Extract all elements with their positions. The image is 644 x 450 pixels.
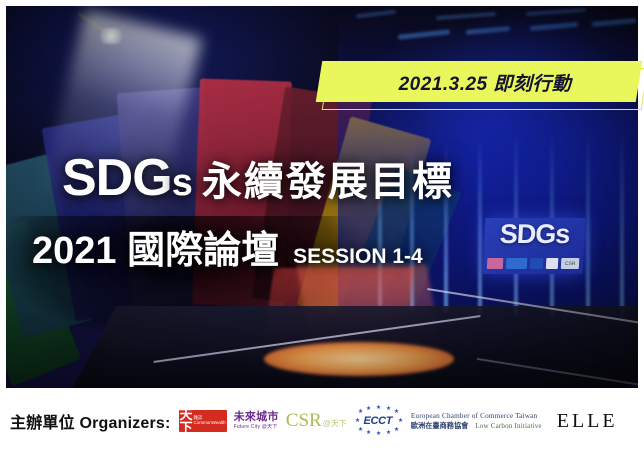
event-poster: SDGs CSR 2021.3.25 即刻行動 SDGs 永續發展目標 2021… [0, 0, 644, 450]
chamber-second-row: 歐洲在臺商務協會 Low Carbon Initiative [411, 421, 542, 431]
csr-suffix: @天下 [323, 418, 347, 429]
eu-star-icon: ★ [366, 406, 371, 412]
organizer-logo-row: 天下 雜誌 CommonWealth 未來城市 Future City @天下 … [179, 406, 618, 436]
date-banner-text: 2021.3.25 即刻行動 [335, 66, 635, 98]
eu-star-icon: ★ [355, 418, 360, 424]
eu-star-icon: ★ [394, 427, 399, 433]
eu-star-icon: ★ [358, 409, 363, 415]
csr-main: CSR [286, 410, 322, 432]
mini-logo [487, 258, 504, 269]
future-city-english: Future City @天下 [234, 425, 278, 430]
eu-star-icon: ★ [386, 406, 391, 412]
mini-logo [530, 258, 543, 269]
eu-star-icon: ★ [358, 427, 363, 433]
chamber-english-name: European Chamber of Commerce Taiwan [411, 412, 542, 421]
title-session: SESSION 1-4 [293, 246, 423, 267]
title-chinese-main: 永續發展目標 [202, 162, 454, 202]
logo-european-chamber: European Chamber of Commerce Taiwan 歐洲在臺… [411, 412, 542, 431]
sdgs-stage-screen-badge: SDGs CSR [483, 218, 586, 274]
commonwealth-sub: 雜誌 CommonWealth [193, 416, 225, 426]
eu-star-icon: ★ [366, 430, 371, 436]
organizers-footer: 主辦單位 Organizers: 天下 雜誌 CommonWealth 未來城市… [0, 392, 644, 450]
title-chinese-sub: 國際論壇 [127, 230, 279, 272]
mini-logo-csr: CSR [561, 258, 579, 269]
poster-title-primary: SDGs 永續發展目標 [62, 152, 454, 204]
logo-csr-commonwealth: CSR @天下 [286, 410, 347, 432]
title-year-and-forum: 2021 國際論壇 [32, 232, 279, 270]
title-acronym: SDGs [62, 152, 192, 204]
ecct-acronym: ECCT [363, 415, 392, 427]
poster-title-secondary: 2021 國際論壇 SESSION 1-4 [32, 232, 423, 270]
commonwealth-chinese: 天下 [179, 408, 191, 434]
logo-future-city: 未來城市 Future City @天下 [234, 412, 279, 430]
date-banner: 2021.3.25 即刻行動 [315, 60, 644, 118]
eu-star-icon: ★ [386, 430, 391, 436]
mini-logo [506, 258, 528, 269]
mini-logo [546, 258, 559, 269]
low-carbon-initiative-label: Low Carbon Initiative [475, 422, 541, 431]
chamber-chinese-name: 歐洲在臺商務協會 [411, 421, 469, 430]
sdgs-badge-label: SDGs [484, 219, 586, 250]
eu-star-icon: ★ [376, 431, 381, 437]
eu-star-icon: ★ [398, 418, 403, 424]
commonwealth-sub-line2: CommonWealth [193, 420, 225, 425]
title-year: 2021 [32, 230, 117, 272]
logo-commonwealth-magazine: 天下 雜誌 CommonWealth [179, 410, 227, 432]
future-city-chinese: 未來城市 [234, 412, 279, 423]
eu-star-icon: ★ [394, 409, 399, 415]
logo-ecct: ★ ★ ★ ★ ★ ★ ★ ★ ★ ★ ★ ★ ECCT [354, 406, 402, 436]
logo-elle: ELLE [557, 410, 618, 433]
sdgs-badge-mini-logo-row: CSR [487, 257, 580, 270]
eu-star-icon: ★ [376, 405, 381, 411]
title-acronym-upper: SDG [62, 149, 172, 207]
title-acronym-lower: s [172, 162, 192, 204]
organizers-label: 主辦單位 Organizers: [10, 409, 171, 433]
